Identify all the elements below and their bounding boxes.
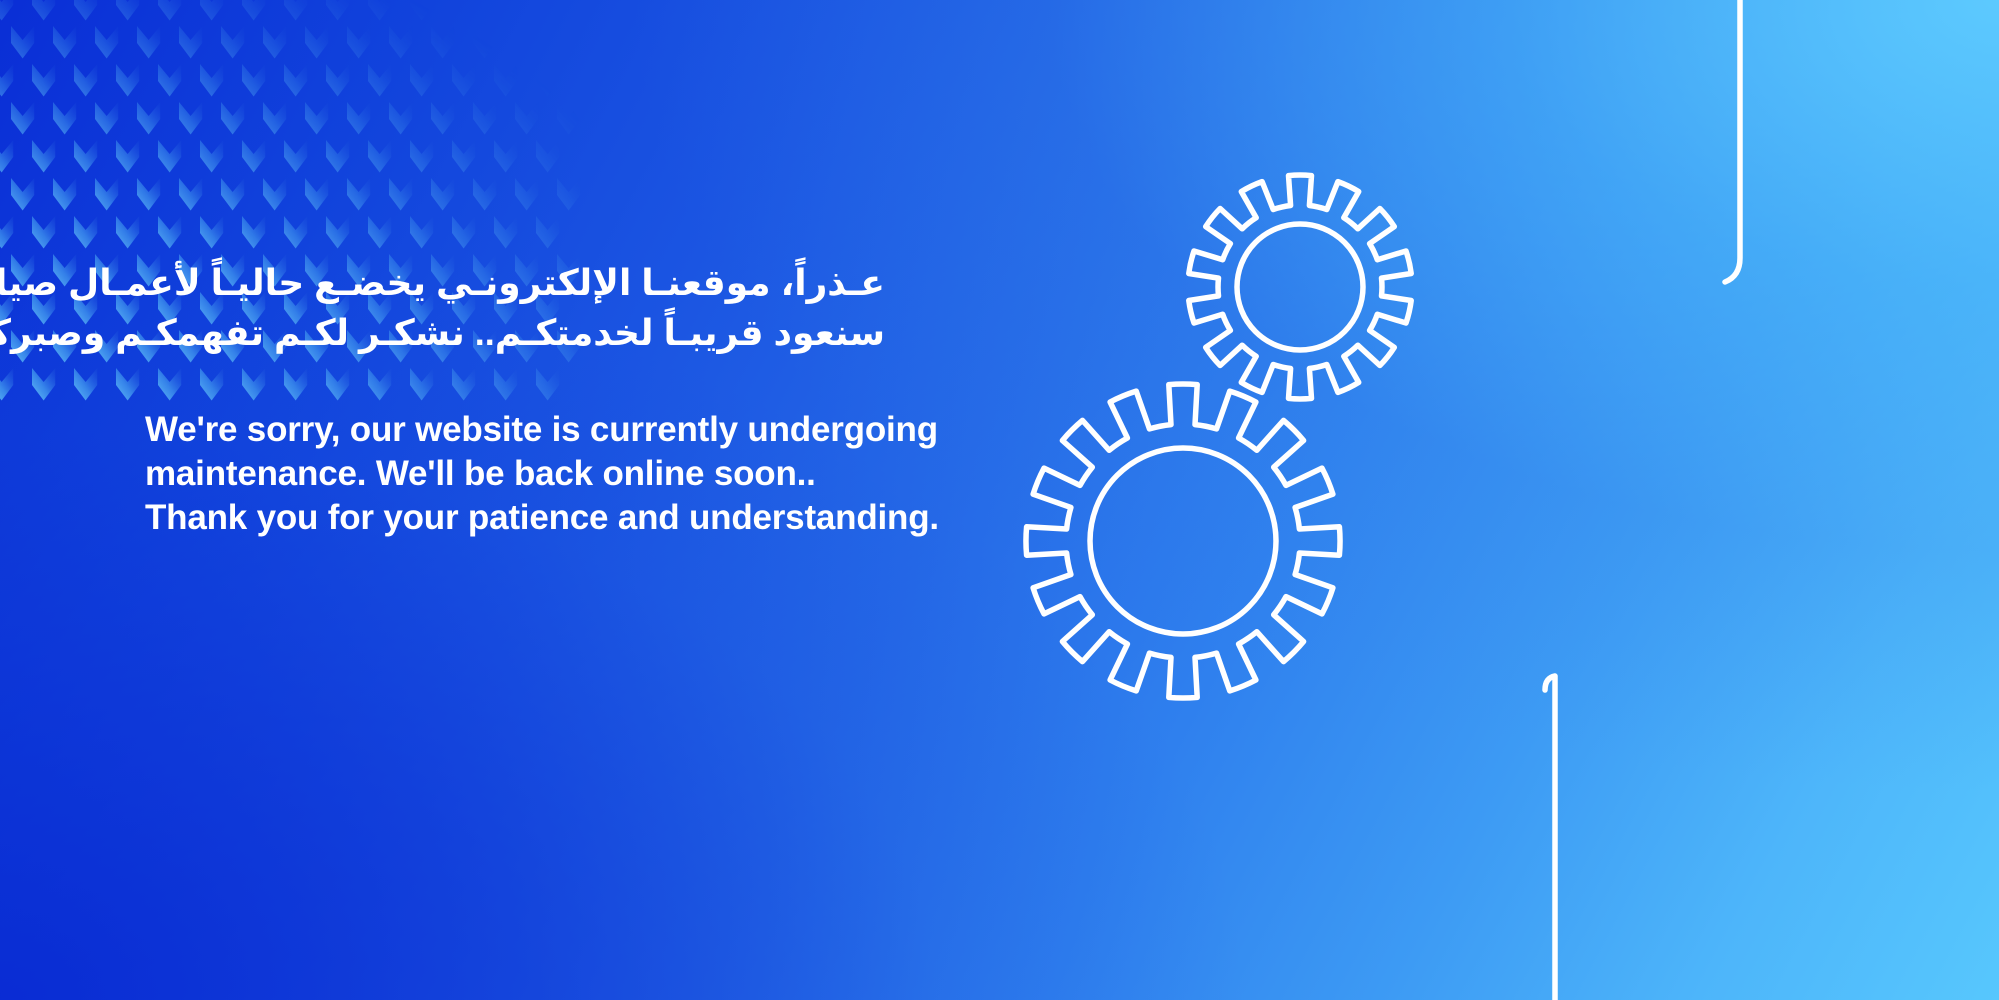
arabic-message: عـذراً، موقعنـا الإلكترونـي يخضـع حاليـا… [145, 258, 1165, 358]
english-line-1: We're sorry, our website is currently un… [145, 408, 1165, 452]
english-message: We're sorry, our website is currently un… [145, 408, 1165, 540]
arabic-line-2: سنعود قريبـاً لخدمتكـم.. نشكـر لكـم تفهم… [145, 308, 885, 358]
english-line-2: maintenance. We'll be back online soon.. [145, 452, 1165, 496]
english-line-3: Thank you for your patience and understa… [145, 496, 1165, 540]
arabic-line-1: عـذراً، موقعنـا الإلكترونـي يخضـع حاليـا… [145, 258, 885, 308]
message-block: عـذراً، موقعنـا الإلكترونـي يخضـع حاليـا… [145, 258, 1165, 540]
maintenance-page: عـذراً، موقعنـا الإلكترونـي يخضـع حاليـا… [0, 0, 1999, 1000]
